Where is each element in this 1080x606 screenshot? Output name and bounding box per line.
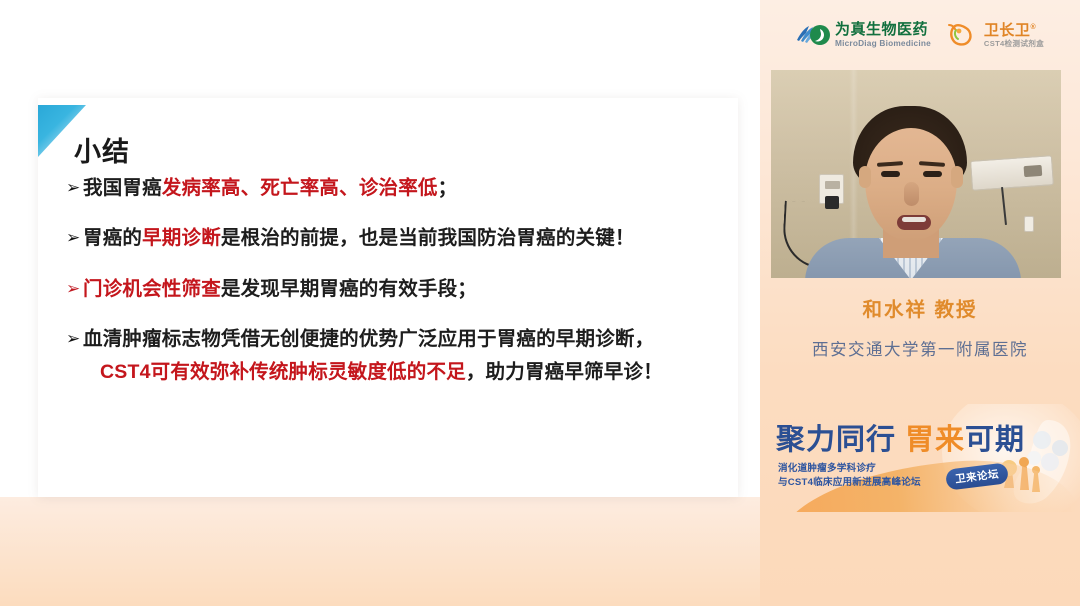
registered-mark-icon: ® <box>1030 24 1036 31</box>
text-segment: 是根治的前提，也是当前我国防治胃癌的关键！ <box>221 227 635 249</box>
speaker-eye-right <box>923 171 942 177</box>
stomach-icon <box>947 22 979 48</box>
closing-tail: ，助力胃癌早筛早诊！ <box>466 361 663 383</box>
presentation-stage: 小结 ➢ 我国胃癌发病率高、死亡率高、诊治率低； ➢ 胃癌的早期诊断是根治的前提… <box>0 0 1080 606</box>
bullet-list: ➢ 我国胃癌发病率高、死亡率高、诊治率低； ➢ 胃癌的早期诊断是根治的前提，也是… <box>66 176 726 384</box>
text-segment: 是发现早期胃癌的有效手段； <box>221 278 477 300</box>
cst4-logo-text: 卫长卫® CST4检测试剂盒 <box>984 23 1044 48</box>
slide-card: 小结 ➢ 我国胃癌发病率高、死亡率高、诊治率低； ➢ 胃癌的早期诊断是根治的前提… <box>38 98 738 497</box>
speaker-ear-left <box>859 166 871 188</box>
text-segment: 我国胃癌 <box>83 177 162 199</box>
conference-title: 聚力同行 胃来可期 <box>776 416 1025 458</box>
microdiag-logo-en: MicroDiag Biomedicine <box>835 39 931 47</box>
speaker-video-feed[interactable] <box>771 70 1061 278</box>
list-item: ➢ 我国胃癌发病率高、死亡率高、诊治率低； <box>66 176 726 200</box>
bullet-marker-icon: ➢ <box>66 177 82 200</box>
microdiag-mark-icon <box>796 23 830 47</box>
conference-banner: 聚力同行 胃来可期 消化道肿瘤多学科诊疗 与CST4临床应用新进展高峰论坛 卫来… <box>760 404 1080 512</box>
speaker-organization: 西安交通大学第一附属医院 <box>760 336 1080 360</box>
conference-title-orange: 胃来 <box>905 424 965 456</box>
microdiag-logo-text: 为真生物医药 MicroDiag Biomedicine <box>835 22 931 47</box>
cst4-logo: 卫长卫® CST4检测试剂盒 <box>947 22 1044 48</box>
conference-title-blue: 可期 <box>965 424 1025 456</box>
list-item-text: 我国胃癌发病率高、死亡率高、诊治率低； <box>83 176 726 200</box>
text-segment: ； <box>438 177 458 199</box>
speaker-mouth <box>897 215 931 230</box>
list-item-text: 胃癌的早期诊断是根治的前提，也是当前我国防治胃癌的关键！ <box>83 226 726 250</box>
closing-statement: CST4可有效弥补传统肿标灵敏度低的不足，助力胃癌早筛早诊！ <box>66 360 726 384</box>
bullet-marker-icon: ➢ <box>66 227 82 250</box>
cst4-logo-cn-text: 卫长卫 <box>984 22 1031 39</box>
text-segment-highlight: 发病率高、死亡率高、诊治率低 <box>162 177 438 199</box>
logo-bar: 为真生物医药 MicroDiag Biomedicine 卫长卫® CST4检测… <box>760 12 1080 58</box>
conference-title-part-b: 胃来可期 <box>905 416 1025 458</box>
bullet-marker-icon: ➢ <box>66 278 82 301</box>
cst4-logo-en: CST4检测试剂盒 <box>984 40 1044 48</box>
video-frame <box>771 70 1061 278</box>
slide-lower-background <box>0 497 760 606</box>
slide-region: 小结 ➢ 我国胃癌发病率高、死亡率高、诊治率低； ➢ 胃癌的早期诊断是根治的前提… <box>0 0 760 606</box>
list-item: ➢ 门诊机会性筛查是发现早期胃癌的有效手段； <box>66 277 726 301</box>
conference-subtitle-line-1: 消化道肿瘤多学科诊疗 <box>778 462 948 476</box>
speaker-eye-left <box>881 171 900 177</box>
conference-subtitle-line-2: 与CST4临床应用新进展高峰论坛 <box>778 476 948 490</box>
speaker-nose <box>904 182 919 206</box>
bullet-marker-icon: ➢ <box>66 328 82 351</box>
list-item: ➢ 血清肿瘤标志物凭借无创便捷的优势广泛应用于胃癌的早期诊断， <box>66 327 726 351</box>
text-segment-highlight: 早期诊断 <box>142 227 221 249</box>
text-segment: 胃癌的 <box>83 227 142 249</box>
conference-title-part-a: 聚力同行 <box>776 416 896 458</box>
wall-switch <box>1024 216 1034 232</box>
cst4-logo-cn: 卫长卫® <box>984 23 1044 38</box>
text-segment: 血清肿瘤标志物凭借无创便捷的优势广泛应用于胃癌的早期诊断， <box>83 328 654 350</box>
page-title: 小结 <box>74 130 130 169</box>
list-item-text: 血清肿瘤标志物凭借无创便捷的优势广泛应用于胃癌的早期诊断， <box>83 327 726 351</box>
speaker-ear-right <box>951 166 963 188</box>
list-item-text: 门诊机会性筛查是发现早期胃癌的有效手段； <box>83 277 726 301</box>
text-segment-highlight: 门诊机会性筛查 <box>83 278 221 300</box>
microdiag-logo-cn: 为真生物医药 <box>835 22 931 37</box>
conference-subtitle: 消化道肿瘤多学科诊疗 与CST4临床应用新进展高峰论坛 <box>778 462 948 490</box>
wall-fixture <box>970 155 1054 191</box>
list-item: ➢ 胃癌的早期诊断是根治的前提，也是当前我国防治胃癌的关键！ <box>66 226 726 250</box>
microdiag-logo: 为真生物医药 MicroDiag Biomedicine <box>796 22 931 47</box>
closing-highlight: CST4可有效弥补传统肿标灵敏度低的不足 <box>100 361 466 383</box>
speaker-name: 和水祥 教授 <box>760 293 1080 322</box>
conference-banner-inner: 聚力同行 胃来可期 消化道肿瘤多学科诊疗 与CST4临床应用新进展高峰论坛 卫来… <box>760 404 1080 512</box>
